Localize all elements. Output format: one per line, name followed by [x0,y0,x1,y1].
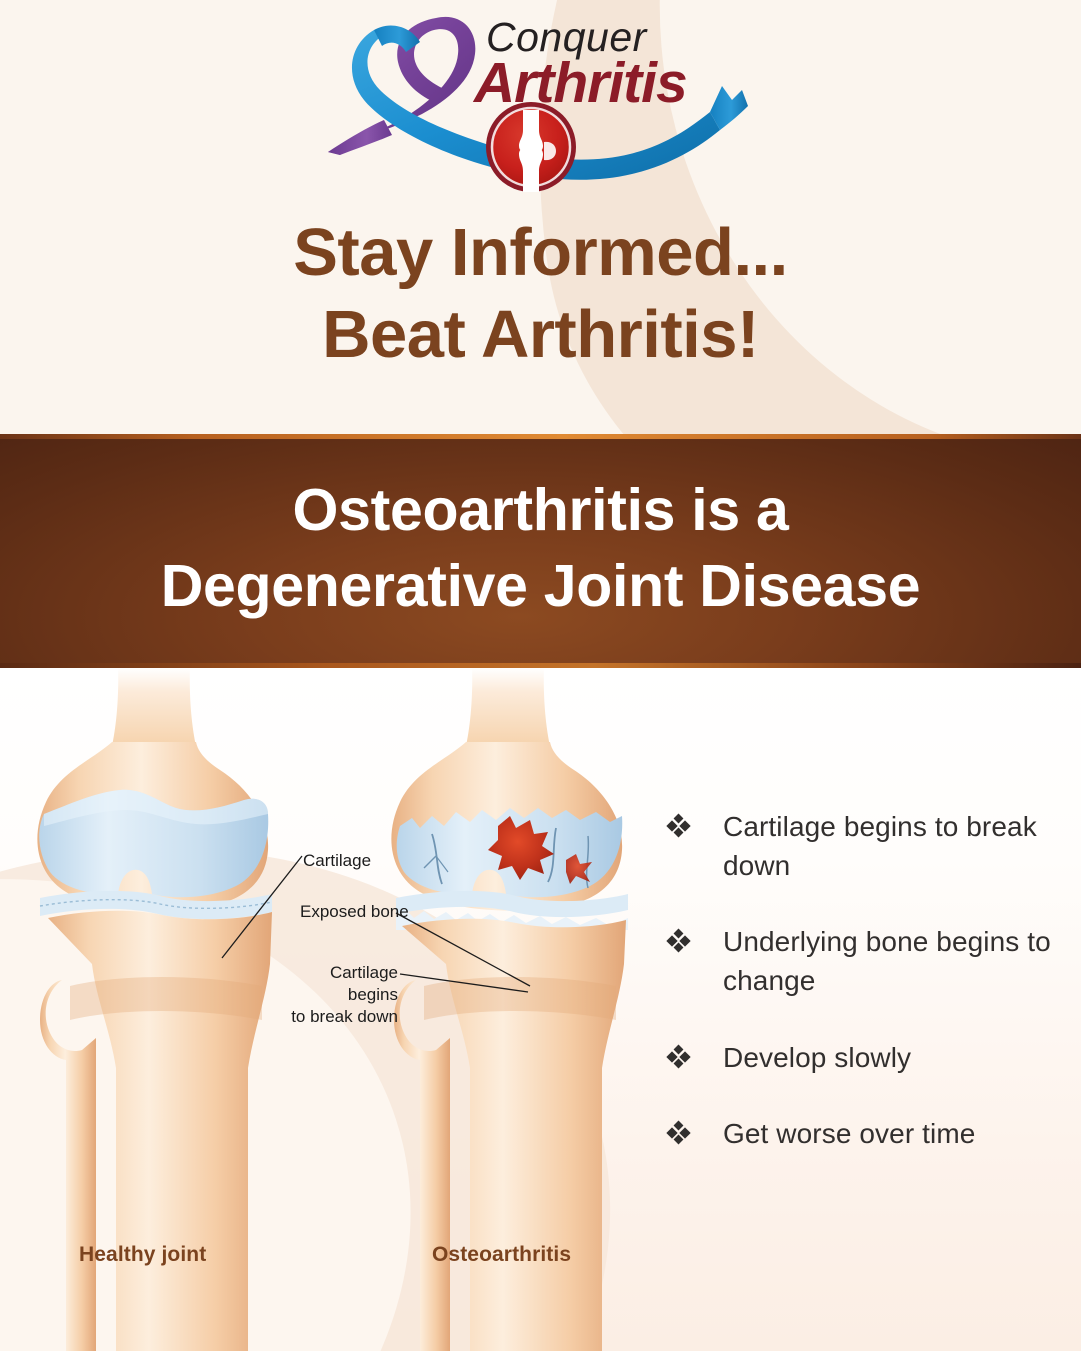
callout-label-exposed-bone: Exposed bone [300,901,409,923]
caption-osteoarthritis: Osteoarthritis [432,1243,571,1267]
list-item: Underlying bone begins to change [668,923,1068,1000]
bullet-text: Develop slowly [723,1039,911,1078]
callout-label-cartilage: Cartilage [303,850,371,872]
symptom-bullet-list: Cartilage begins to break down Underlyin… [668,808,1068,1154]
diamond-cluster-icon [668,1122,691,1145]
banner-line-2: Degenerative Joint Disease [0,549,1081,625]
list-item: Cartilage begins to break down [668,808,1068,885]
list-item: Get worse over time [668,1115,1068,1154]
logo-word-arthritis: Arthritis [474,50,687,116]
headline-line-2: Beat Arthritis! [0,294,1081,376]
bullet-text: Underlying bone begins to change [723,923,1068,1000]
banner-line-1: Osteoarthritis is a [0,473,1081,549]
diamond-cluster-icon [668,1046,691,1069]
banner-title: Osteoarthritis is a Degenerative Joint D… [0,473,1081,628]
banner-top-accent-line [0,434,1081,439]
infographic-poster: Conquer Arthritis Stay Informed... Beat … [0,0,1081,1351]
conquer-arthritis-logo: Conquer Arthritis [318,2,768,202]
poster-headline: Stay Informed... Beat Arthritis! [0,212,1081,375]
bullet-text: Get worse over time [723,1115,975,1154]
headline-line-1: Stay Informed... [0,212,1081,294]
banner-section: Osteoarthritis is a Degenerative Joint D… [0,434,1081,668]
diamond-cluster-icon [668,815,691,838]
callout-label-cartilage-break-down: Cartilage begins to break down [276,962,398,1028]
caption-healthy-joint: Healthy joint [79,1243,206,1267]
bullet-text: Cartilage begins to break down [723,808,1068,885]
list-item: Develop slowly [668,1039,1068,1078]
diamond-cluster-icon [668,930,691,953]
